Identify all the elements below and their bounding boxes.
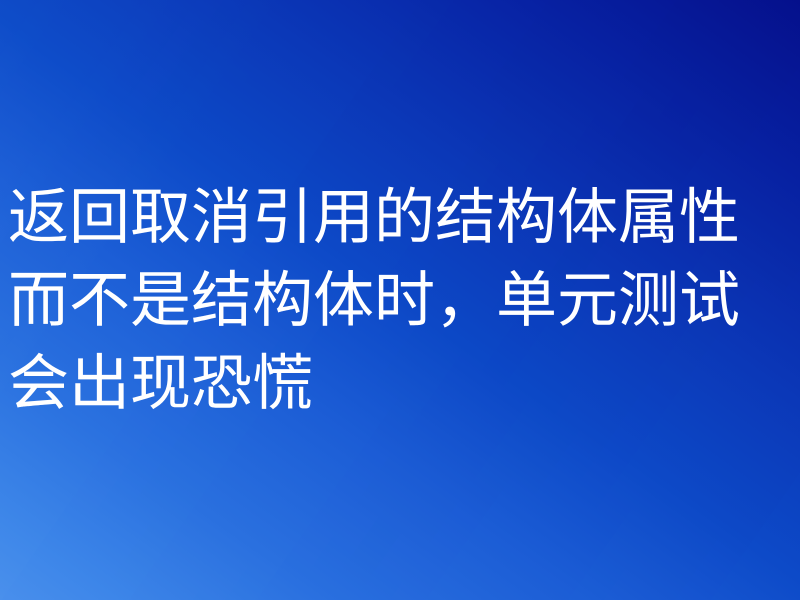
headline-text: 返回取消引用的结构体属性而不是结构体时，单元测试会出现恐慌: [8, 176, 796, 425]
banner-background: 返回取消引用的结构体属性而不是结构体时，单元测试会出现恐慌: [0, 0, 800, 600]
